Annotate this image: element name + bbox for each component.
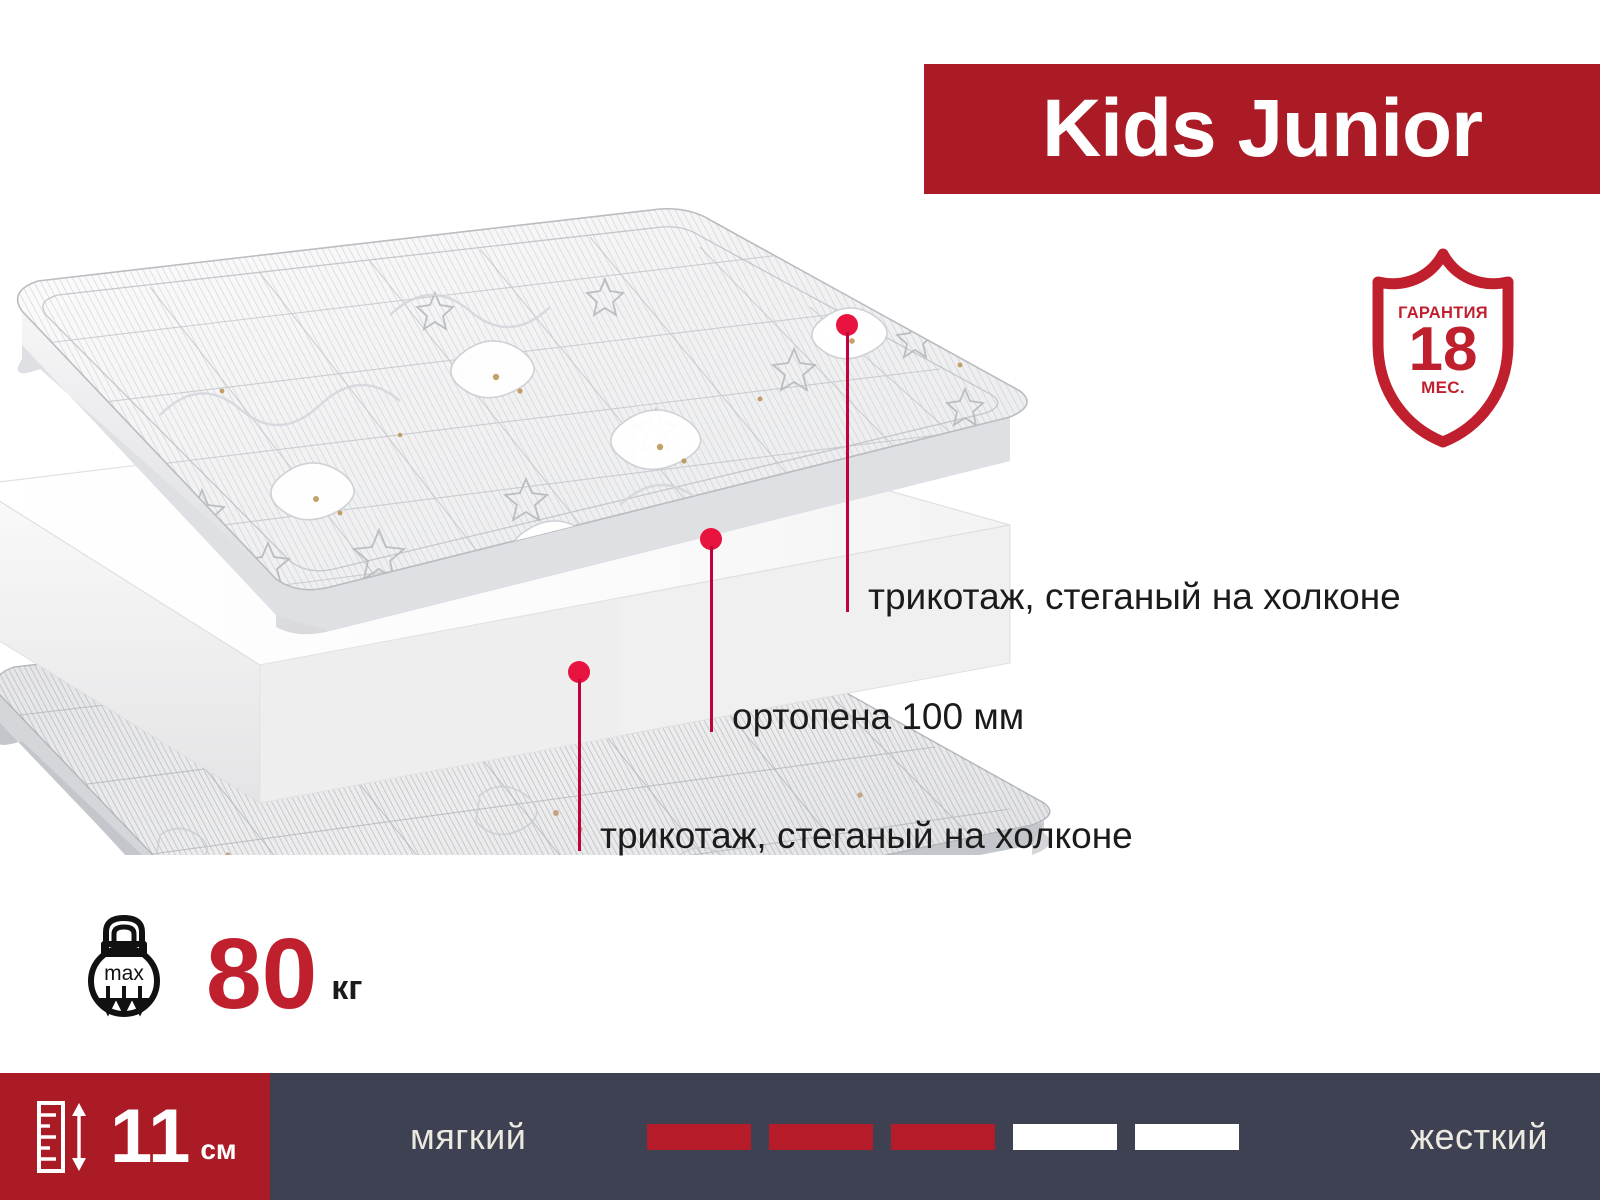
kettlebell-max-icon: max (78, 908, 170, 1020)
shield-icon (1358, 248, 1528, 448)
height-value: 11 (110, 1099, 190, 1175)
callout-line (578, 679, 581, 851)
infographic-canvas: Kids Junior ГАРАНТИЯ 18 МЕС. трикотаж, с… (0, 0, 1600, 1200)
firmness-segment-5 (1135, 1124, 1239, 1150)
bottom-bar: 11 см мягкий жесткий (0, 1073, 1600, 1200)
firmness-block: мягкий жесткий (270, 1073, 1600, 1200)
max-load-value: 80 (206, 928, 317, 1020)
warranty-badge: ГАРАНТИЯ 18 МЕС. (1358, 248, 1528, 448)
page-title: Kids Junior (1042, 88, 1482, 170)
firmness-scale (647, 1124, 1239, 1150)
height-block: 11 см (0, 1073, 270, 1200)
callout-line (846, 332, 849, 612)
callout-label: трикотаж, стеганый на холконе (600, 815, 1133, 857)
callout-label: ортопена 100 мм (732, 696, 1024, 738)
max-load-unit: кг (331, 969, 362, 1008)
firmness-segment-3 (891, 1124, 995, 1150)
firmness-hard-label: жесткий (1410, 1116, 1548, 1158)
callout-line (710, 546, 713, 732)
firmness-segment-1 (647, 1124, 751, 1150)
ruler-height-icon (36, 1100, 94, 1174)
max-load-block: max 80 кг (78, 905, 362, 1020)
mattress-illustration (0, 195, 1100, 855)
firmness-soft-label: мягкий (410, 1116, 526, 1158)
firmness-segment-2 (769, 1124, 873, 1150)
firmness-segment-4 (1013, 1124, 1117, 1150)
callout-label: трикотаж, стеганый на холконе (868, 576, 1401, 618)
height-unit: см (200, 1134, 236, 1166)
product-title-banner: Kids Junior (924, 64, 1600, 194)
svg-text:max: max (104, 962, 144, 985)
